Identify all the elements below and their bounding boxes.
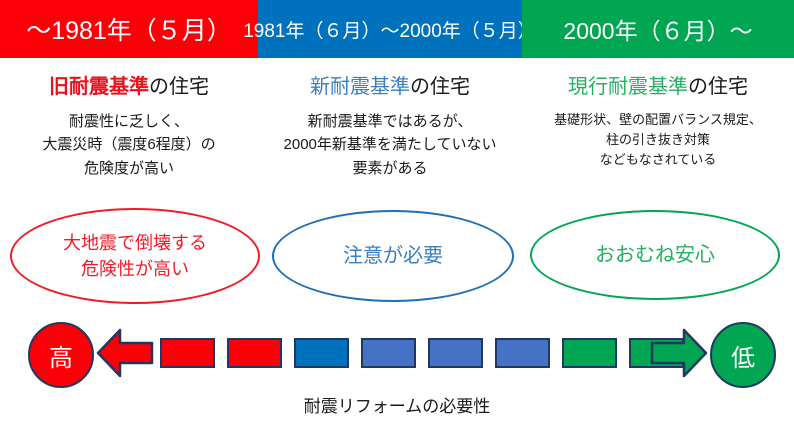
scale-caption: 耐震リフォームの必要性 <box>0 392 794 417</box>
subtitle-old-accent: 旧耐震基準 <box>49 76 149 98</box>
subtitle-old-tail: の住宅 <box>149 76 209 98</box>
subtitle-new-tail: の住宅 <box>410 76 470 98</box>
description-new-line-3: 要素がある <box>258 157 522 180</box>
subtitle-current-tail: の住宅 <box>688 76 748 98</box>
verdict-current-line-1: おおむね安心 <box>595 241 715 270</box>
arrow-right-icon <box>650 324 708 382</box>
scale-segment-5 <box>428 338 483 368</box>
description-old-line-3: 危険度が高い <box>0 157 258 180</box>
description-current-line-3: などもなされている <box>522 150 794 170</box>
description-old: 耐震性に乏しく、 大震災時（震度6程度）の 危険度が高い <box>0 110 258 180</box>
scale-segment-3 <box>294 338 349 368</box>
period-band-new-label: 1981年（６月）〜2000年（５月） <box>243 16 537 43</box>
verdict-old-line-1: 大地震で倒壊する <box>63 230 207 256</box>
description-new-line-1: 新耐震基準ではあるが、 <box>258 110 522 133</box>
verdict-new-line-1: 注意が必要 <box>343 242 443 271</box>
period-band-current: 2000年（６月）〜 <box>522 0 794 58</box>
description-new-line-2: 2000年新基準を満たしていない <box>258 133 522 156</box>
period-band-new: 1981年（６月）〜2000年（５月） <box>258 0 522 58</box>
risk-level-high-label: 高 <box>49 338 73 373</box>
verdict-old-line-2: 危険性が高い <box>63 256 207 282</box>
period-band-old-label: 〜1981年（５月） <box>26 11 232 47</box>
scale-segment-7 <box>562 338 617 368</box>
risk-level-high-badge: 高 <box>28 322 94 388</box>
description-old-line-2: 大震災時（震度6程度）の <box>0 133 258 156</box>
period-band-old: 〜1981年（５月） <box>0 0 258 58</box>
scale-segment-2 <box>227 338 282 368</box>
scale-segment-4 <box>361 338 416 368</box>
subtitle-old: 旧耐震基準の住宅 <box>0 70 258 99</box>
subtitle-current: 現行耐震基準の住宅 <box>522 70 794 99</box>
risk-level-low-label: 低 <box>731 338 755 373</box>
scale-segment-1 <box>160 338 215 368</box>
description-new: 新耐震基準ではあるが、 2000年新基準を満たしていない 要素がある <box>258 110 522 180</box>
description-old-line-1: 耐震性に乏しく、 <box>0 110 258 133</box>
description-current-line-2: 柱の引き抜き対策 <box>522 130 794 150</box>
period-band-current-label: 2000年（６月）〜 <box>563 12 752 46</box>
verdict-ellipse-current: おおむね安心 <box>530 210 780 300</box>
subtitle-new: 新耐震基準の住宅 <box>258 70 522 99</box>
risk-level-low-badge: 低 <box>710 322 776 388</box>
description-current: 基礎形状、壁の配置バランス規定、 柱の引き抜き対策 などもなされている <box>522 110 794 170</box>
arrow-left-icon <box>96 324 154 382</box>
risk-scale: 高 低 <box>0 318 794 390</box>
earthquake-standard-diagram: 〜1981年（５月） 1981年（６月）〜2000年（５月） 2000年（６月）… <box>0 0 794 429</box>
verdict-ellipse-old: 大地震で倒壊する 危険性が高い <box>10 208 260 304</box>
scale-segment-6 <box>495 338 550 368</box>
description-current-line-1: 基礎形状、壁の配置バランス規定、 <box>522 110 794 130</box>
verdict-ellipse-new: 注意が必要 <box>272 210 514 302</box>
subtitle-current-accent: 現行耐震基準 <box>568 76 688 98</box>
subtitle-new-accent: 新耐震基準 <box>310 76 410 98</box>
